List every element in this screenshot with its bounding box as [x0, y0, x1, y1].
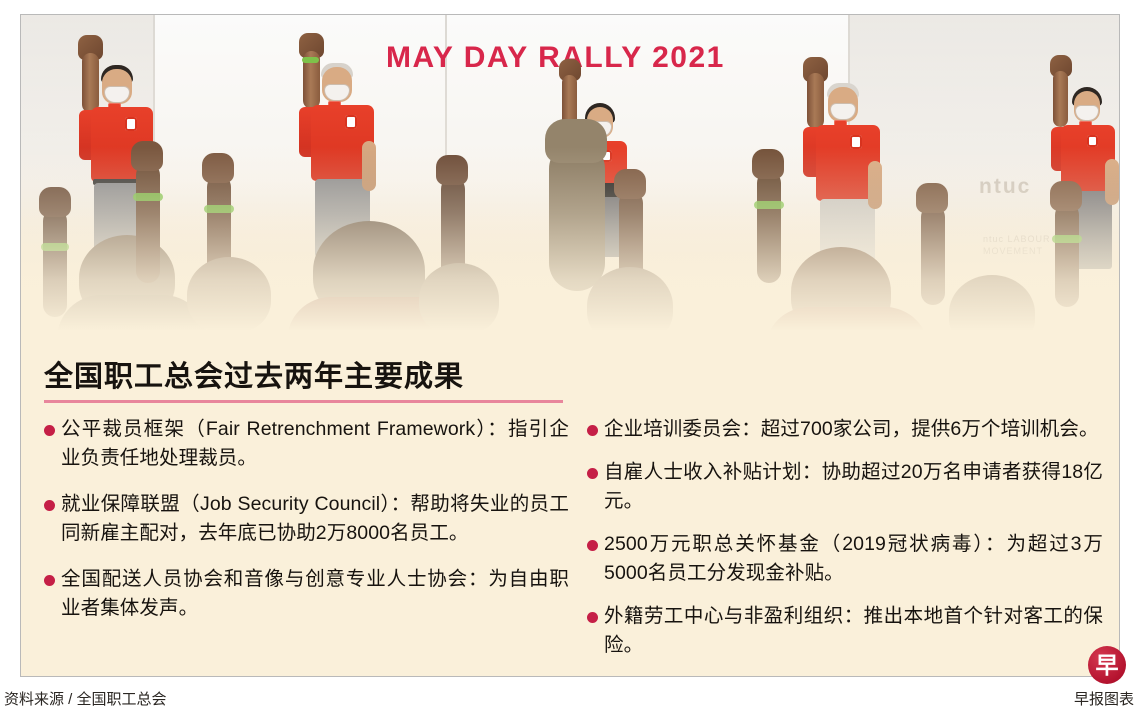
ntuc-badge	[345, 115, 357, 129]
audience-crowd	[21, 147, 1119, 337]
list-item: 外籍劳工中心与非盈利组织：推出本地首个针对客工的保险。	[587, 602, 1103, 660]
source-attribution: 资料来源 / 全国职工总会	[4, 688, 167, 709]
list-item: 2500万元职总关怀基金（2019冠状病毒）：为超过3万5000名员工分发现金补…	[587, 530, 1103, 588]
title-underline	[44, 400, 563, 403]
list-item: 企业培训委员会：超过700家公司，提供6万个培训机会。	[587, 415, 1103, 444]
ntuc-badge	[1087, 135, 1098, 147]
graphic-credit: 早报图表	[1074, 688, 1134, 709]
ntuc-badge	[125, 117, 137, 131]
infographic-card: MAY DAY RALLY 2021 ntuc ntuc LABOURMOVEM…	[20, 14, 1120, 677]
bullet-columns: 公平裁员框架（Fair Retrenchment Framework）：指引企业…	[21, 415, 1119, 674]
upper-arm	[82, 53, 99, 113]
rally-title-text: MAY DAY RALLY 2021	[386, 41, 725, 75]
left-column: 公平裁员框架（Fair Retrenchment Framework）：指引企业…	[21, 415, 579, 674]
infographic-root: MAY DAY RALLY 2021 ntuc ntuc LABOURMOVEM…	[0, 0, 1140, 712]
upper-arm	[807, 73, 824, 129]
crowd-haze-overlay	[21, 147, 1119, 337]
may-day-rally-photo: MAY DAY RALLY 2021 ntuc ntuc LABOURMOVEM…	[21, 15, 1119, 337]
upper-arm	[1053, 71, 1068, 127]
list-item: 就业保障联盟（Job Security Council）：帮助将失业的员工同新雇…	[44, 490, 569, 548]
right-column: 企业培训委员会：超过700家公司，提供6万个培训机会。 自雇人士收入补贴计划：协…	[579, 415, 1119, 674]
page-title: 全国职工总会过去两年主要成果	[44, 353, 464, 395]
results-panel: 全国职工总会过去两年主要成果 公平裁员框架（Fair Retrenchment …	[21, 337, 1119, 676]
list-item: 公平裁员框架（Fair Retrenchment Framework）：指引企业…	[44, 415, 569, 473]
zaobao-logo-icon: 早	[1088, 646, 1126, 684]
list-item: 全国配送人员协会和音像与创意专业人士协会：为自由职业者集体发声。	[44, 565, 569, 623]
green-wristband	[302, 57, 319, 63]
list-item: 自雇人士收入补贴计划：协助超过20万名申请者获得18亿元。	[587, 458, 1103, 516]
